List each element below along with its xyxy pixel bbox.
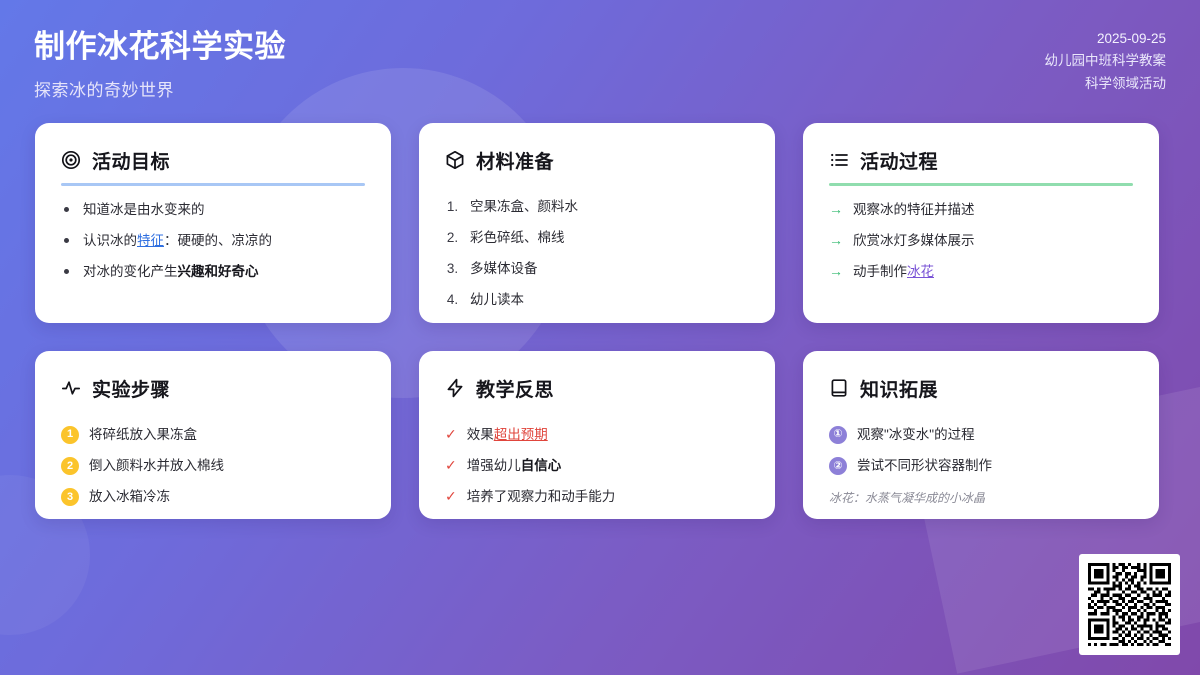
list-item-label: 知道冰是由水变来的: [83, 201, 205, 219]
card-materials: 材料准备1.空果冻盒、颜料水2.彩色碎纸、棉线3.多媒体设备4.幼儿读本: [419, 123, 775, 323]
step-number-marker: 1: [61, 426, 79, 444]
bullet-marker: [64, 269, 69, 274]
number-marker: 1.: [445, 198, 460, 216]
card-teaching-reflection: 教学反思✓效果超出预期✓增强幼儿自信心✓培养了观察力和动手能力: [419, 351, 775, 519]
list-item-label: 空果冻盒、颜料水: [470, 198, 578, 216]
target-icon: [61, 150, 81, 170]
book-icon: [829, 378, 849, 398]
page-header: 制作冰花科学实验 探索冰的奇妙世界 2025-09-25 幼儿园中班科学教案 科…: [0, 0, 1200, 101]
list-item-label: 对冰的变化产生兴趣和好奇心: [83, 263, 259, 281]
list-item-label: 增强幼儿自信心: [467, 457, 562, 475]
list-item: ✓培养了观察力和动手能力: [445, 488, 749, 506]
bullet-marker: [64, 207, 69, 212]
meta-date: 2025-09-25: [1045, 28, 1167, 50]
arrow-marker: →: [829, 263, 843, 281]
card-footnote: 冰花：水蒸气凝华成的小冰晶: [829, 489, 1133, 506]
list-item-label: 多媒体设备: [470, 260, 538, 278]
list-item-label: 彩色碎纸、棉线: [470, 229, 565, 247]
card-items: ✓效果超出预期✓增强幼儿自信心✓培养了观察力和动手能力: [445, 426, 749, 507]
card-title: 活动过程: [860, 147, 938, 174]
list-item-label: 培养了观察力和动手能力: [467, 488, 616, 506]
card-accent-rule: [829, 183, 1133, 186]
step-number-marker: ①: [829, 426, 847, 444]
card-title: 知识拓展: [860, 375, 938, 402]
list-item: 1.空果冻盒、颜料水: [445, 198, 749, 216]
list-item: 知道冰是由水变来的: [61, 201, 365, 219]
list-item-label: 效果超出预期: [467, 426, 548, 444]
list-item: 2.彩色碎纸、棉线: [445, 229, 749, 247]
arrow-marker: →: [829, 232, 843, 250]
list-item: →观察冰的特征并描述: [829, 201, 1133, 219]
card-items: 知道冰是由水变来的认识冰的特征：硬硬的、凉凉的对冰的变化产生兴趣和好奇心: [61, 201, 365, 282]
card-title: 活动目标: [92, 147, 170, 174]
card-items: 1将碎纸放入果冻盒2倒入颜料水并放入棉线3放入冰箱冷冻: [61, 426, 365, 507]
list-item-label: 倒入颜料水并放入棉线: [89, 457, 224, 475]
inline-link[interactable]: 冰花: [907, 264, 934, 279]
arrow-marker: →: [829, 201, 843, 219]
list-item: ✓效果超出预期: [445, 426, 749, 444]
list-item: ②尝试不同形状容器制作: [829, 457, 1133, 475]
inline-link[interactable]: 特征: [137, 233, 164, 248]
card-title: 实验步骤: [92, 375, 170, 402]
card-header: 活动目标: [61, 147, 365, 174]
step-number-marker: ②: [829, 457, 847, 475]
list-item-label: 观察冰的特征并描述: [853, 201, 975, 219]
list-item: 2倒入颜料水并放入棉线: [61, 457, 365, 475]
card-accent-rule: [61, 183, 365, 186]
list-item-label: 放入冰箱冷冻: [89, 488, 170, 506]
meta-domain: 科学领域活动: [1045, 73, 1167, 95]
list-item: 对冰的变化产生兴趣和好奇心: [61, 263, 365, 281]
meta-category: 幼儿园中班科学教案: [1045, 50, 1167, 72]
card-items: 1.空果冻盒、颜料水2.彩色碎纸、棉线3.多媒体设备4.幼儿读本: [445, 198, 749, 310]
card-knowledge-extension: 知识拓展①观察"冰变水"的过程②尝试不同形状容器制作冰花：水蒸气凝华成的小冰晶: [803, 351, 1159, 519]
list-item: 1将碎纸放入果冻盒: [61, 426, 365, 444]
check-marker: ✓: [445, 457, 457, 475]
list-item-label: 幼儿读本: [470, 291, 524, 309]
card-grid: 活动目标知道冰是由水变来的认识冰的特征：硬硬的、凉凉的对冰的变化产生兴趣和好奇心…: [0, 101, 1200, 519]
list-item: 认识冰的特征：硬硬的、凉凉的: [61, 232, 365, 250]
list-item-label: 观察"冰变水"的过程: [857, 426, 975, 444]
list-item: 3.多媒体设备: [445, 260, 749, 278]
bullet-marker: [64, 238, 69, 243]
inline-link[interactable]: 超出预期: [494, 427, 548, 442]
card-activity-process: 活动过程→观察冰的特征并描述→欣赏冰灯多媒体展示→动手制作冰花: [803, 123, 1159, 323]
page-title: 制作冰花科学实验: [34, 28, 286, 67]
card-title: 材料准备: [476, 147, 554, 174]
qr-code[interactable]: [1079, 554, 1180, 655]
check-marker: ✓: [445, 426, 457, 444]
number-marker: 4.: [445, 291, 460, 309]
card-activity-goals: 活动目标知道冰是由水变来的认识冰的特征：硬硬的、凉凉的对冰的变化产生兴趣和好奇心: [35, 123, 391, 323]
list-icon: [829, 150, 849, 170]
card-title: 教学反思: [476, 375, 554, 402]
list-item: →动手制作冰花: [829, 263, 1133, 281]
list-item-label: 欣赏冰灯多媒体展示: [853, 232, 975, 250]
zap-icon: [445, 378, 465, 398]
header-title-block: 制作冰花科学实验 探索冰的奇妙世界: [34, 28, 286, 101]
list-item: 3放入冰箱冷冻: [61, 488, 365, 506]
list-item: ①观察"冰变水"的过程: [829, 426, 1133, 444]
list-item-label: 将碎纸放入果冻盒: [89, 426, 197, 444]
number-marker: 2.: [445, 229, 460, 247]
card-header: 知识拓展: [829, 375, 1133, 402]
card-header: 活动过程: [829, 147, 1133, 174]
list-item: ✓增强幼儿自信心: [445, 457, 749, 475]
step-number-marker: 3: [61, 488, 79, 506]
card-items: →观察冰的特征并描述→欣赏冰灯多媒体展示→动手制作冰花: [829, 201, 1133, 282]
card-items: ①观察"冰变水"的过程②尝试不同形状容器制作: [829, 426, 1133, 475]
qr-code-canvas: [1088, 563, 1171, 646]
list-item-label: 动手制作冰花: [853, 263, 934, 281]
step-number-marker: 2: [61, 457, 79, 475]
list-item: 4.幼儿读本: [445, 291, 749, 309]
header-meta: 2025-09-25 幼儿园中班科学教案 科学领域活动: [1045, 28, 1167, 95]
card-experiment-steps: 实验步骤1将碎纸放入果冻盒2倒入颜料水并放入棉线3放入冰箱冷冻: [35, 351, 391, 519]
number-marker: 3.: [445, 260, 460, 278]
list-item: →欣赏冰灯多媒体展示: [829, 232, 1133, 250]
card-header: 实验步骤: [61, 375, 365, 402]
list-item-label: 尝试不同形状容器制作: [857, 457, 992, 475]
check-marker: ✓: [445, 488, 457, 506]
activity-pulse-icon: [61, 378, 81, 398]
card-header: 教学反思: [445, 375, 749, 402]
list-item-label: 认识冰的特征：硬硬的、凉凉的: [83, 232, 272, 250]
page-subtitle: 探索冰的奇妙世界: [34, 76, 286, 101]
box-icon: [445, 150, 465, 170]
card-header: 材料准备: [445, 147, 749, 174]
